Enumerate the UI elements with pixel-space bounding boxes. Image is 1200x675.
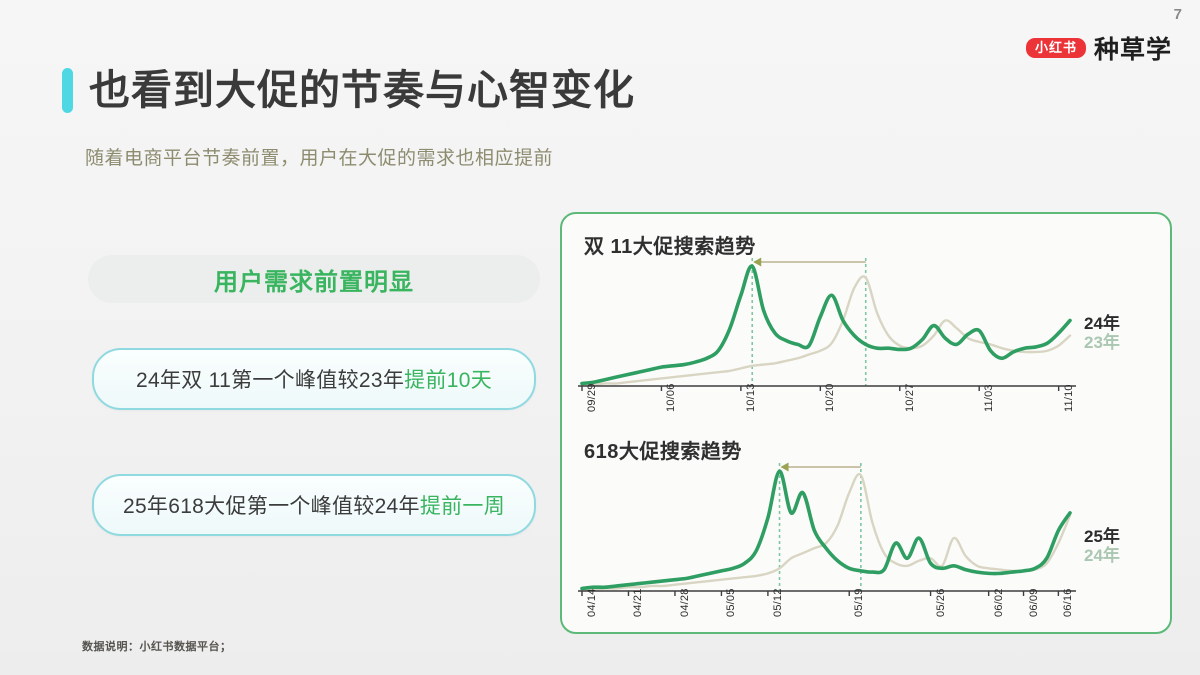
- brand-name: 种草学: [1094, 30, 1172, 66]
- slide-root: 7 小红书 种草学 也看到大促的节奏与心智变化 随着电商平台节奏前置，用户在大促…: [0, 0, 1200, 675]
- pill-heading-label: 用户需求前置明显: [214, 262, 414, 297]
- callout-2-highlight: 提前一周: [420, 495, 505, 518]
- chart-2-legend-series-1: 25年: [1084, 527, 1120, 546]
- page-subtitle: 随着电商平台节奏前置，用户在大促的需求也相应提前: [85, 143, 553, 170]
- chart-1-legend-series-1: 24年: [1084, 314, 1120, 333]
- chart-double11: 双 11大促搜索趋势 09/2910/0610/1310/2010/2711/0…: [562, 222, 1170, 422]
- x-tick-label: 06/16: [1062, 588, 1074, 617]
- x-tick-label: 04/21: [632, 588, 644, 617]
- title-text: 也看到大促的节奏与心智变化: [89, 70, 635, 111]
- x-tick-label: 05/26: [935, 588, 947, 617]
- chart-2-legend: 25年 24年: [1084, 527, 1120, 565]
- chart-2-svg: [576, 451, 1076, 611]
- x-tick-label: 10/06: [665, 383, 677, 412]
- chart-2-x-axis-labels: 04/1404/2104/2805/0505/1205/1905/2606/02…: [576, 613, 1076, 661]
- pill-heading: 用户需求前置明显: [88, 255, 540, 303]
- page-title: 也看到大促的节奏与心智变化: [62, 68, 635, 113]
- x-tick-label: 05/05: [725, 588, 737, 617]
- callout-1-text: 24年双 11第一个峰值较23年: [136, 369, 404, 392]
- chart-2-legend-series-2: 24年: [1084, 546, 1120, 565]
- x-tick-label: 06/09: [1028, 588, 1040, 617]
- x-tick-label: 05/12: [772, 588, 784, 617]
- charts-panel: 双 11大促搜索趋势 09/2910/0610/1310/2010/2711/0…: [560, 212, 1172, 634]
- x-tick-label: 10/20: [824, 383, 836, 412]
- callout-box-1: 24年双 11第一个峰值较23年提前10天: [92, 348, 536, 410]
- x-tick-label: 09/29: [586, 383, 598, 412]
- x-tick-label: 04/28: [679, 588, 691, 617]
- x-tick-label: 11/03: [983, 384, 995, 412]
- chart-2-plot: [576, 451, 1076, 611]
- brand-badge: 小红书: [1026, 38, 1086, 58]
- x-tick-label: 05/19: [853, 588, 865, 617]
- x-tick-label: 10/13: [745, 383, 757, 412]
- chart-1-legend: 24年 23年: [1084, 314, 1120, 352]
- x-tick-label: 11/10: [1063, 384, 1075, 412]
- brand-logo: 小红书 种草学: [1026, 30, 1172, 66]
- x-tick-label: 06/02: [993, 588, 1005, 617]
- footnote: 数据说明：小红书数据平台；: [82, 638, 232, 654]
- callout-1-highlight: 提前10天: [404, 369, 492, 392]
- callout-2-text: 25年618大促第一个峰值较24年: [123, 495, 420, 518]
- chart-1-plot: [576, 246, 1076, 406]
- chart-1-legend-series-2: 23年: [1084, 333, 1120, 352]
- chart-618: 618大促搜索趋势 04/1404/2104/2805/0505/1205/19…: [562, 427, 1170, 627]
- x-tick-label: 10/27: [904, 383, 916, 412]
- callout-box-2: 25年618大促第一个峰值较24年提前一周: [92, 474, 536, 536]
- x-tick-label: 04/14: [586, 588, 598, 617]
- chart-1-svg: [576, 246, 1076, 406]
- page-number: 7: [1174, 6, 1182, 23]
- title-accent-bar: [62, 68, 73, 113]
